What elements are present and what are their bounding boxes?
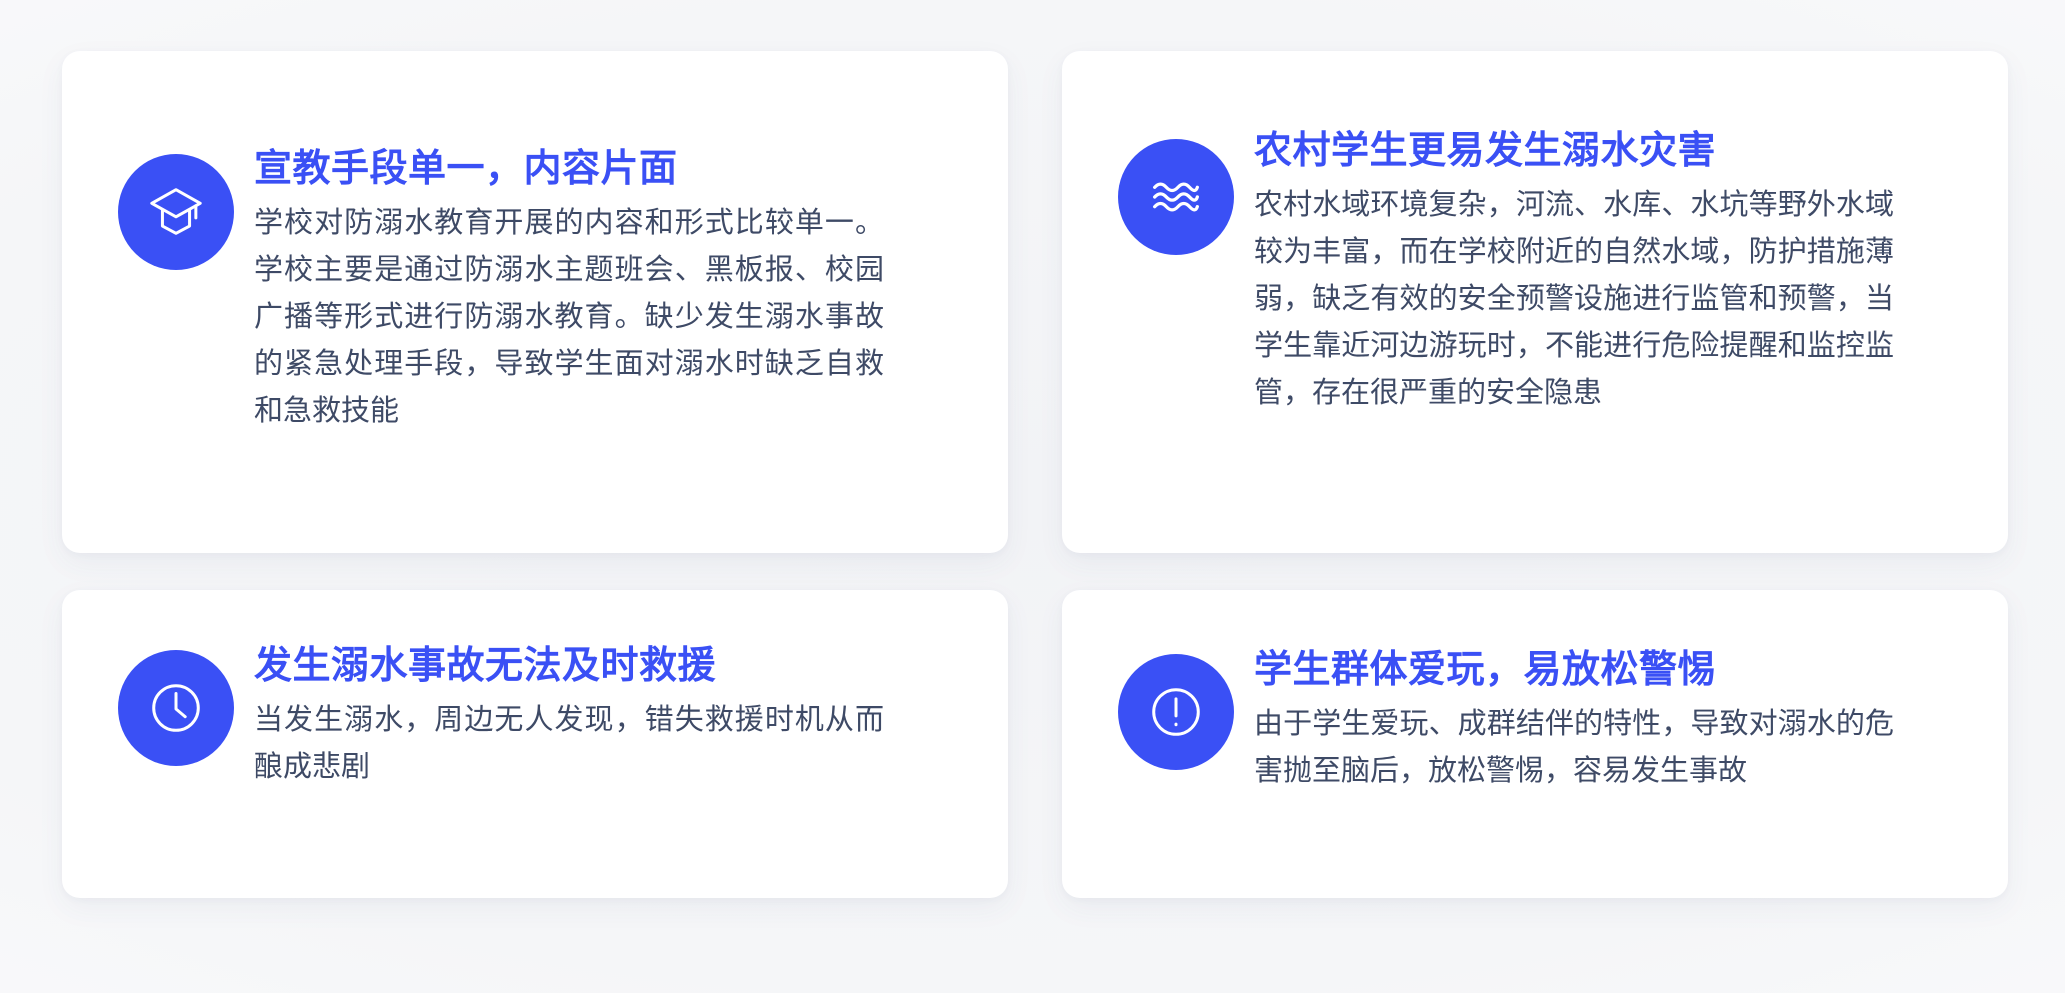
info-card-rescue-delay[interactable]: 发生溺水事故无法及时救援 当发生溺水，周边无人发现，错失救援时机从而酿成悲剧 xyxy=(62,590,1008,898)
card-title: 发生溺水事故无法及时救援 xyxy=(254,644,946,689)
card-title: 农村学生更易发生溺水灾害 xyxy=(1254,129,1952,174)
feature-card-grid: 宣教手段单一，内容片面 学校对防溺水教育开展的内容和形式比较单一。学校主要是通过… xyxy=(0,0,2065,993)
card-title: 学生群体爱玩，易放松警惕 xyxy=(1254,648,1952,693)
graduation-cap-icon xyxy=(145,181,207,243)
text-column: 宣教手段单一，内容片面 学校对防溺水教育开展的内容和形式比较单一。学校主要是通过… xyxy=(254,147,946,435)
text-column: 学生群体爱玩，易放松警惕 由于学生爱玩、成群结伴的特性，导致对溺水的危害抛至脑后… xyxy=(1254,648,1952,795)
graduation-cap-icon-badge xyxy=(118,154,234,270)
icon-column xyxy=(98,644,254,766)
card-body: 当发生溺水，周边无人发现，错失救援时机从而酿成悲剧 xyxy=(254,697,884,791)
water-waves-icon xyxy=(1145,166,1207,228)
info-card-rural-risk[interactable]: 农村学生更易发生溺水灾害 农村水域环境复杂，河流、水库、水坑等野外水域较为丰富，… xyxy=(1062,51,2008,553)
water-waves-icon-badge xyxy=(1118,139,1234,255)
exclamation-circle-icon-badge xyxy=(1118,654,1234,770)
card-title: 宣教手段单一，内容片面 xyxy=(254,147,946,192)
card-body: 由于学生爱玩、成群结伴的特性，导致对溺水的危害抛至脑后，放松警惕，容易发生事故 xyxy=(1254,701,1894,795)
text-column: 农村学生更易发生溺水灾害 农村水域环境复杂，河流、水库、水坑等野外水域较为丰富，… xyxy=(1254,129,1952,417)
icon-column xyxy=(1098,129,1254,255)
exclamation-circle-icon xyxy=(1145,681,1207,743)
icon-column xyxy=(1098,648,1254,770)
card-body: 学校对防溺水教育开展的内容和形式比较单一。学校主要是通过防溺水主题班会、黑板报、… xyxy=(254,200,884,435)
text-column: 发生溺水事故无法及时救援 当发生溺水，周边无人发现，错失救援时机从而酿成悲剧 xyxy=(254,644,946,791)
info-card-propaganda[interactable]: 宣教手段单一，内容片面 学校对防溺水教育开展的内容和形式比较单一。学校主要是通过… xyxy=(62,51,1008,553)
card-body: 农村水域环境复杂，河流、水库、水坑等野外水域较为丰富，而在学校附近的自然水域，防… xyxy=(1254,182,1894,417)
info-card-student-vigilance[interactable]: 学生群体爱玩，易放松警惕 由于学生爱玩、成群结伴的特性，导致对溺水的危害抛至脑后… xyxy=(1062,590,2008,898)
clock-icon-badge xyxy=(118,650,234,766)
icon-column xyxy=(98,147,254,270)
clock-icon xyxy=(145,677,207,739)
